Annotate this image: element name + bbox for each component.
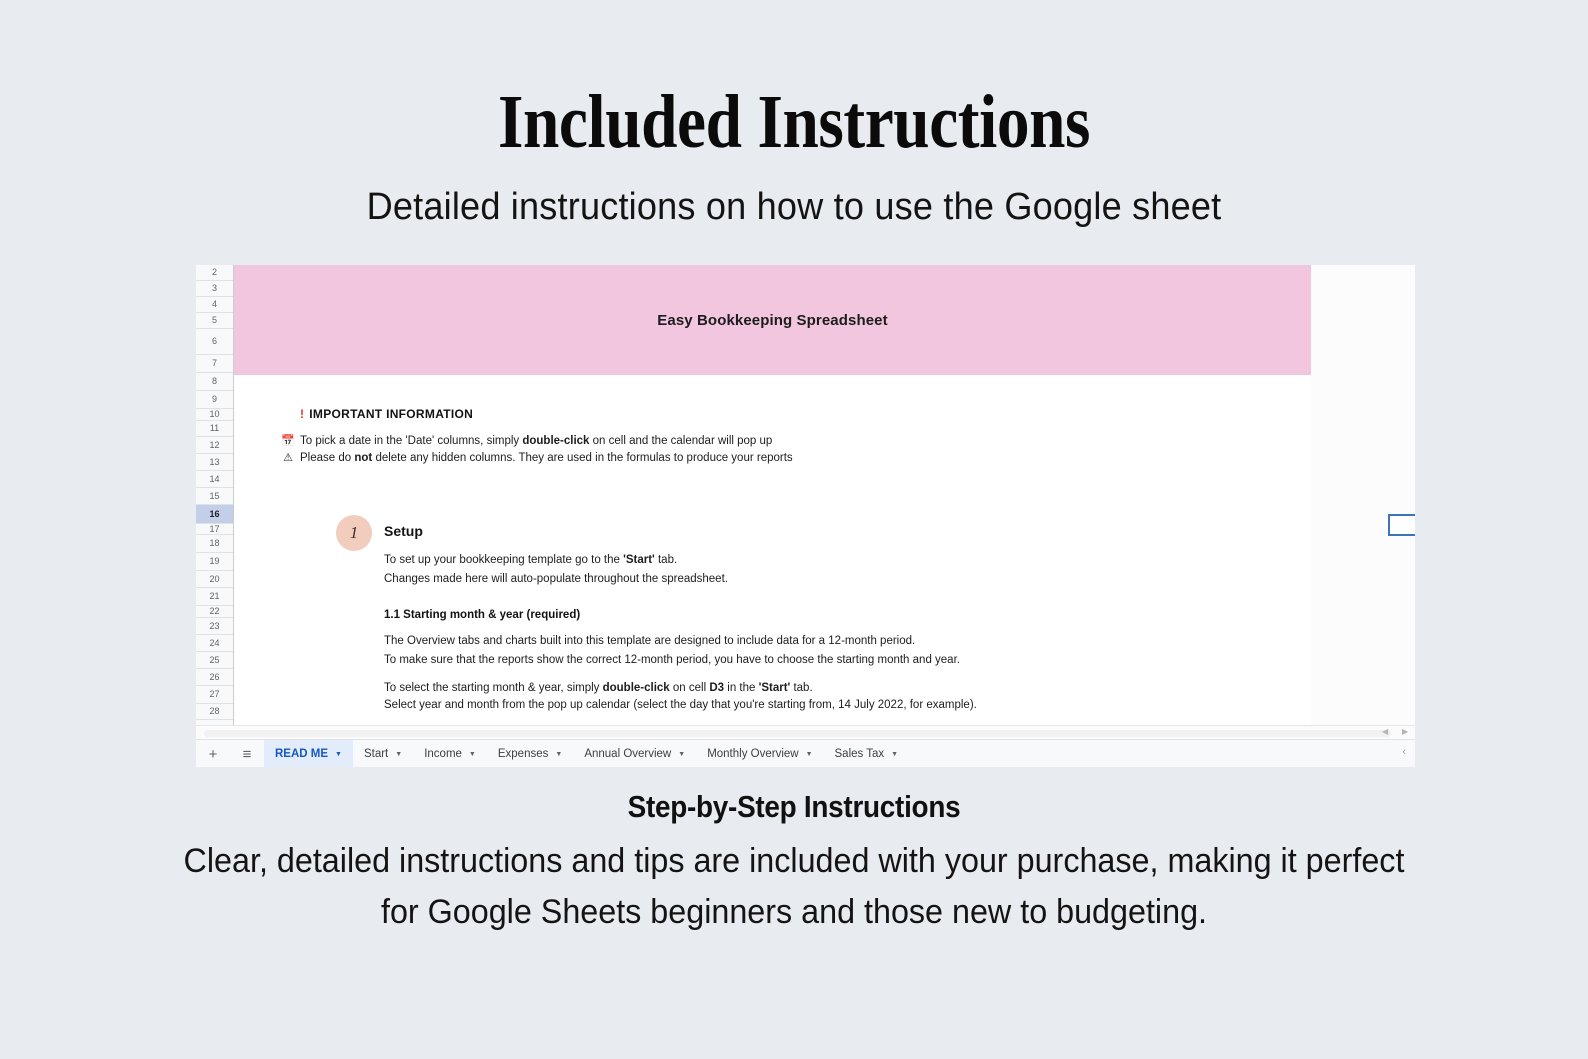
important-line-1: 📅To pick a date in the 'Date' columns, s… (300, 436, 772, 448)
row-header-11[interactable]: 11 (196, 421, 233, 437)
sheet-tab-label: Sales Tax (835, 748, 885, 760)
sheet-tab-income[interactable]: Income▼ (413, 740, 487, 767)
setup-line-4: To make sure that the reports show the c… (384, 655, 960, 667)
step-number-badge: 1 (336, 515, 372, 551)
important-line-2: ⚠Please do not delete any hidden columns… (300, 453, 793, 465)
sheet-grid: 2345678910111213141516171819202122232425… (196, 265, 1415, 725)
selected-cell[interactable] (1388, 514, 1415, 536)
chevron-down-icon[interactable]: ▼ (891, 751, 898, 758)
row-header-3[interactable]: 3 (196, 281, 233, 297)
row-header-28[interactable]: 28 (196, 704, 233, 720)
setup-line-3: The Overview tabs and charts built into … (384, 636, 915, 648)
warning-icon: ⚠ (281, 453, 295, 464)
row-header-6[interactable]: 6 (196, 329, 233, 355)
row-header-12[interactable]: 12 (196, 437, 233, 454)
scroll-left-icon[interactable]: ◀ (1382, 728, 1388, 736)
chevron-down-icon[interactable]: ▼ (395, 751, 402, 758)
row-header-19[interactable]: 19 (196, 553, 233, 571)
exclamation-icon: ! (300, 407, 304, 421)
horizontal-scrollbar[interactable]: ◀ ▶ (196, 725, 1415, 740)
row-header-24[interactable]: 24 (196, 635, 233, 652)
setup-line-5: To select the starting month & year, sim… (384, 683, 813, 695)
setup-line-5-post: tab. (790, 682, 812, 694)
sheet-tab-expenses[interactable]: Expenses▼ (487, 740, 573, 767)
row-header-21[interactable]: 21 (196, 588, 233, 606)
row-header-18[interactable]: 18 (196, 535, 233, 553)
footer-title: Step-by-Step Instructions (79, 789, 1508, 825)
row-header-17[interactable]: 17 (196, 524, 233, 535)
chevron-down-icon[interactable]: ▼ (555, 751, 562, 758)
chevron-down-icon[interactable]: ▼ (469, 751, 476, 758)
row-header-25[interactable]: 25 (196, 652, 233, 669)
row-header-5[interactable]: 5 (196, 313, 233, 329)
row-header-8[interactable]: 8 (196, 373, 233, 391)
setup-line-5-bold-3: 'Start' (759, 682, 791, 694)
setup-line-2: Changes made here will auto-populate thr… (384, 574, 728, 586)
scrollbar-track[interactable] (204, 730, 1391, 737)
collapse-chevron-icon[interactable]: ‹ (1402, 747, 1406, 758)
sheet-content: !IMPORTANT INFORMATION 📅To pick a date i… (234, 375, 1311, 725)
sheet-tab-label: Annual Overview (584, 748, 671, 760)
sheet-tab-annual-overview[interactable]: Annual Overview▼ (573, 740, 696, 767)
row-header-7[interactable]: 7 (196, 355, 233, 373)
row-header-14[interactable]: 14 (196, 471, 233, 488)
sheet-right-margin (1311, 265, 1415, 725)
setup-line-1-post: tab. (655, 554, 677, 566)
sheet-tab-label: Expenses (498, 748, 549, 760)
setup-line-1-pre: To set up your bookkeeping template go t… (384, 554, 623, 566)
calendar-icon: 📅 (281, 436, 295, 447)
row-header-23[interactable]: 23 (196, 618, 233, 635)
sheet-tab-sales-tax[interactable]: Sales Tax▼ (824, 740, 910, 767)
important-line-2-bold: not (354, 452, 372, 464)
row-header-26[interactable]: 26 (196, 669, 233, 686)
sheet-tab-monthly-overview[interactable]: Monthly Overview▼ (696, 740, 823, 767)
setup-line-5-pre: To select the starting month & year, sim… (384, 682, 603, 694)
sheet-tab-bar: + ≡ READ ME▼Start▼Income▼Expenses▼Annual… (196, 739, 1415, 767)
row-header-22[interactable]: 22 (196, 606, 233, 618)
setup-subheading: 1.1 Starting month & year (required) (384, 609, 580, 621)
row-header-13[interactable]: 13 (196, 454, 233, 471)
sheet-tab-label: Monthly Overview (707, 748, 798, 760)
sheet-tab-label: Income (424, 748, 462, 760)
row-number-gutter: 2345678910111213141516171819202122232425… (196, 265, 234, 725)
row-header-9[interactable]: 9 (196, 391, 233, 409)
page-subtitle: Detailed instructions on how to use the … (40, 160, 1549, 229)
important-line-1-post: on cell and the calendar will pop up (589, 435, 772, 447)
page-title: Included Instructions (111, 0, 1477, 160)
sheet-canvas: Easy Bookkeeping Spreadsheet !IMPORTANT … (234, 265, 1415, 725)
row-header-20[interactable]: 20 (196, 571, 233, 588)
important-line-2-post: delete any hidden columns. They are used… (372, 452, 792, 464)
chevron-down-icon[interactable]: ▼ (678, 751, 685, 758)
sheet-tab-read-me[interactable]: READ ME▼ (264, 740, 353, 767)
setup-heading: Setup (384, 523, 423, 539)
setup-line-6: Select year and month from the pop up ca… (384, 700, 977, 712)
setup-line-5-bold-2: D3 (709, 682, 724, 694)
sheet-tab-label: Start (364, 748, 388, 760)
footer-body: Clear, detailed instructions and tips ar… (182, 836, 1406, 938)
setup-line-1-bold: 'Start' (623, 554, 655, 566)
row-header-2[interactable]: 2 (196, 265, 233, 281)
add-sheet-icon[interactable]: + (196, 747, 230, 762)
setup-line-5-mid: on cell (670, 682, 710, 694)
sheet-tab-label: READ ME (275, 748, 328, 760)
sheet-tab-start[interactable]: Start▼ (353, 740, 413, 767)
row-header-10[interactable]: 10 (196, 409, 233, 421)
scroll-right-icon[interactable]: ▶ (1402, 728, 1408, 736)
important-line-1-bold: double-click (522, 435, 589, 447)
important-information-label: IMPORTANT INFORMATION (309, 407, 473, 421)
all-sheets-icon[interactable]: ≡ (230, 747, 264, 762)
important-line-1-pre: To pick a date in the 'Date' columns, si… (300, 435, 522, 447)
important-information-heading: !IMPORTANT INFORMATION (300, 407, 473, 421)
chevron-down-icon[interactable]: ▼ (335, 751, 342, 758)
important-line-2-pre: Please do (300, 452, 354, 464)
row-header-4[interactable]: 4 (196, 297, 233, 313)
sheet-banner-title: Easy Bookkeeping Spreadsheet (657, 312, 887, 329)
setup-line-1: To set up your bookkeeping template go t… (384, 555, 677, 567)
setup-line-5-bold-1: double-click (603, 682, 670, 694)
chevron-down-icon[interactable]: ▼ (806, 751, 813, 758)
row-header-27[interactable]: 27 (196, 686, 233, 704)
row-header-16[interactable]: 16 (196, 505, 233, 524)
row-header-15[interactable]: 15 (196, 488, 233, 505)
sheet-banner: Easy Bookkeeping Spreadsheet (234, 265, 1311, 375)
spreadsheet-screenshot: 2345678910111213141516171819202122232425… (196, 265, 1415, 767)
setup-line-5-mid-2: in the (724, 682, 759, 694)
